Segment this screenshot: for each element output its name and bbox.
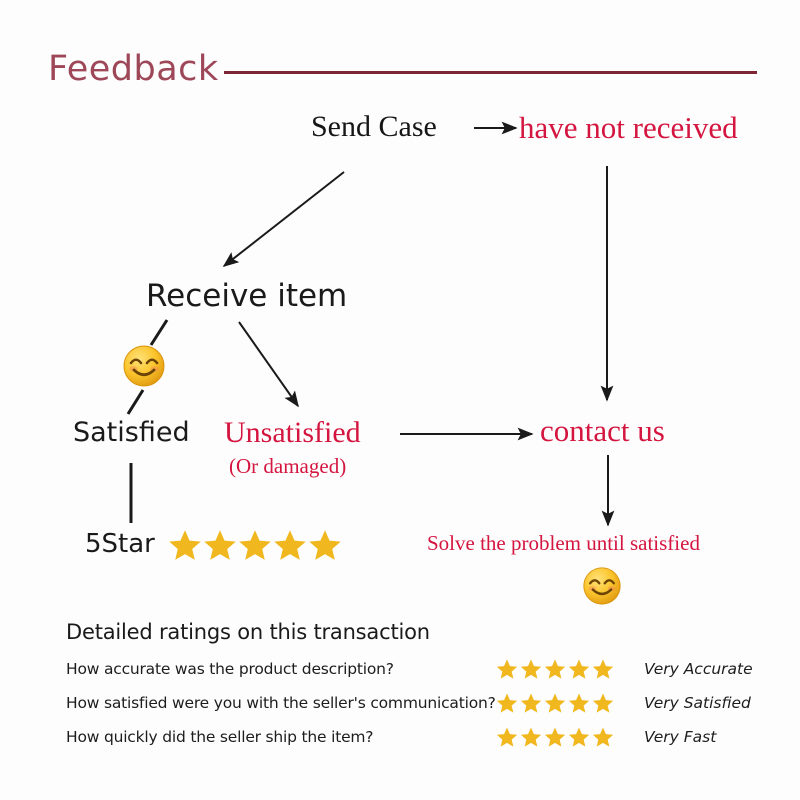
star-icon [544, 726, 566, 748]
rating-row: How accurate was the product description… [66, 655, 776, 683]
star-icon [520, 658, 542, 680]
node-unsatisfied: Unsatisfied [224, 418, 361, 448]
detailed-ratings-section: Detailed ratings on this transaction How… [66, 620, 776, 757]
star-icon [496, 726, 518, 748]
rating-question: How quickly did the seller ship the item… [66, 728, 496, 746]
star-icon [203, 528, 237, 562]
arrow-receiveitem-to-unsatisfied [239, 322, 298, 406]
rating-row: How quickly did the seller ship the item… [66, 723, 776, 751]
detailed-ratings-heading: Detailed ratings on this transaction [66, 620, 776, 644]
smiling-face-emoji [582, 566, 622, 606]
rating-label: Very Satisfied [644, 694, 751, 712]
star-icon [544, 692, 566, 714]
rating-label: Very Accurate [644, 660, 753, 678]
star-icon [520, 726, 542, 748]
rating-question: How accurate was the product description… [66, 660, 496, 678]
arrow-sendcase-to-receiveitem [224, 172, 344, 266]
star-icon [592, 726, 614, 748]
star-icon [568, 658, 590, 680]
star-icon [592, 692, 614, 714]
node-solve-the-problem: Solve the problem until satisfied [427, 533, 700, 554]
node-satisfied: Satisfied [73, 419, 190, 446]
star-icon [520, 692, 542, 714]
rating-stars [496, 692, 644, 714]
star-icon [592, 658, 614, 680]
node-send-case: Send Case [311, 112, 437, 142]
node-5star-label: 5Star [85, 531, 155, 557]
star-icon [496, 692, 518, 714]
node-or-damaged: (Or damaged) [229, 456, 346, 477]
star-icon [168, 528, 202, 562]
line-receiveitem-to-emoji [151, 320, 167, 345]
node-contact-us: contact us [540, 415, 665, 446]
line-emoji-to-satisfied [128, 390, 143, 414]
node-have-not-received: have not received [519, 112, 738, 143]
smiling-face-emoji [122, 344, 166, 388]
detailed-ratings-rows: How accurate was the product description… [66, 655, 776, 751]
star-icon [544, 658, 566, 680]
star-rating-5star [168, 528, 342, 562]
star-icon [496, 658, 518, 680]
star-icon [568, 692, 590, 714]
star-icon [308, 528, 342, 562]
page-title: Feedback [48, 52, 219, 87]
header-divider [224, 71, 757, 74]
star-icon [273, 528, 307, 562]
node-receive-item: Receive item [146, 281, 347, 312]
rating-row: How satisfied were you with the seller's… [66, 689, 776, 717]
rating-stars [496, 726, 644, 748]
rating-stars [496, 658, 644, 680]
rating-question: How satisfied were you with the seller's… [66, 694, 496, 712]
star-icon [568, 726, 590, 748]
rating-label: Very Fast [644, 728, 716, 746]
feedback-infographic: Feedback Send Case have not received Rec… [0, 0, 800, 800]
star-icon [238, 528, 272, 562]
